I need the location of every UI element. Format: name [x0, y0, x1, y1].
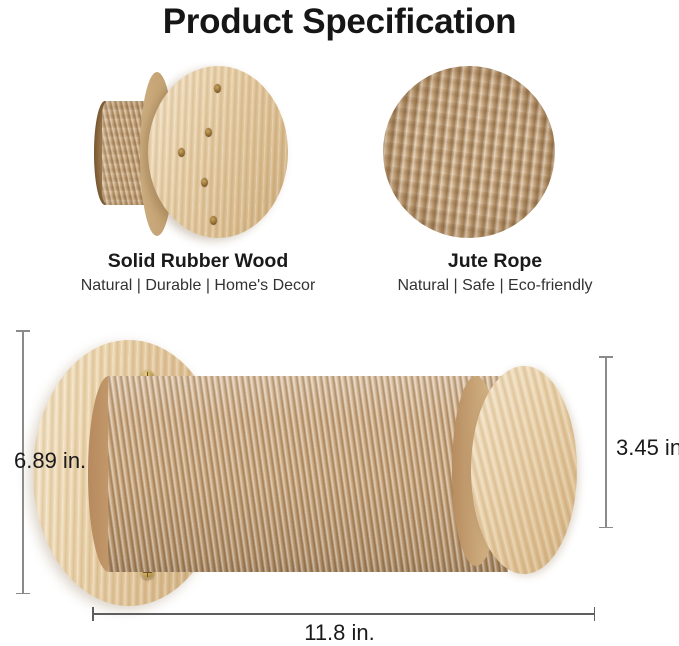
screw-hole-icon — [214, 84, 221, 93]
length-dimension-line — [92, 613, 595, 615]
feature-subtitle: Natural | Durable | Home's Decor — [28, 277, 368, 295]
main-product-illustration — [0, 320, 679, 610]
wood-disc-illustration — [28, 60, 368, 250]
dimension-tick — [599, 356, 613, 358]
dimension-tick — [16, 593, 30, 595]
rope-closeup-circle — [383, 66, 555, 238]
rope-wrapped-cylinder — [108, 376, 508, 572]
wood-end-cap-face — [471, 366, 577, 574]
feature-jute-rope: Jute Rope Natural | Safe | Eco-friendly — [345, 60, 645, 295]
feature-caption: Jute Rope — [345, 250, 645, 273]
feature-caption: Solid Rubber Wood — [28, 250, 368, 273]
feature-solid-rubber-wood: Solid Rubber Wood Natural | Durable | Ho… — [28, 60, 368, 295]
dimension-tick — [599, 527, 613, 529]
thumb-wood-disc-face — [148, 66, 288, 238]
dimension-tick — [16, 330, 30, 332]
diameter-dimension-line — [605, 356, 607, 528]
screw-hole-icon — [178, 148, 185, 157]
feature-subtitle: Natural | Safe | Eco-friendly — [345, 277, 645, 295]
dimension-tick — [594, 607, 596, 621]
product-specification-page: Product Specification Solid Rubber Wood … — [0, 0, 679, 639]
screw-hole-icon — [205, 128, 212, 137]
dimension-tick — [92, 607, 94, 621]
jute-rope-illustration — [345, 60, 645, 250]
page-title: Product Specification — [0, 2, 679, 42]
height-dimension-label: 6.89 in. — [14, 448, 86, 474]
length-dimension-label: 11.8 in. — [0, 620, 679, 646]
screw-hole-icon — [201, 178, 208, 187]
screw-hole-icon — [210, 216, 217, 225]
diameter-dimension-label: 3.45 in. — [616, 435, 679, 461]
